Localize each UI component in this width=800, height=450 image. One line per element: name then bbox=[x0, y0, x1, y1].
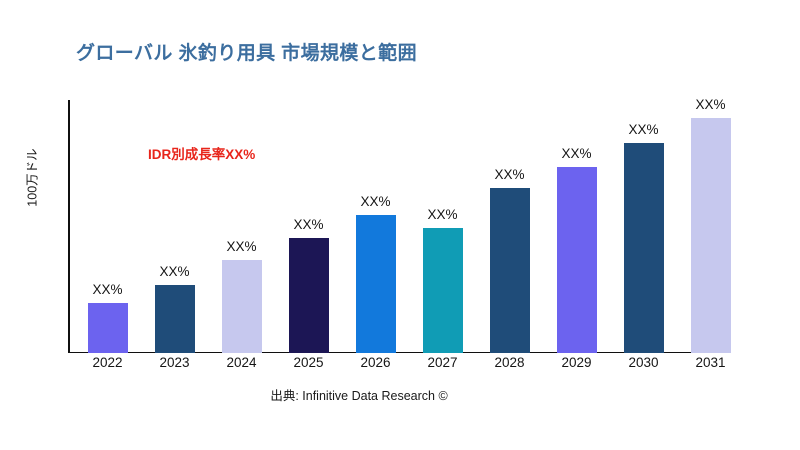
bar-2025[interactable] bbox=[289, 238, 329, 353]
bar-2024[interactable] bbox=[222, 260, 262, 353]
bar-value-label-2028: XX% bbox=[494, 167, 524, 182]
bar-group-2023[interactable]: XX% bbox=[141, 100, 208, 353]
source-note: 出典: Infinitive Data Research © bbox=[0, 385, 718, 404]
bar-value-label-2030: XX% bbox=[628, 122, 658, 137]
bar-group-2028[interactable]: XX% bbox=[476, 100, 543, 353]
bar-2029[interactable] bbox=[557, 167, 597, 353]
bar-2030[interactable] bbox=[624, 143, 664, 353]
bar-group-2026[interactable]: XX% bbox=[342, 100, 409, 353]
bar-value-label-2031: XX% bbox=[695, 97, 725, 112]
bar-2022[interactable] bbox=[88, 303, 128, 353]
bar-group-2022[interactable]: XX% bbox=[74, 100, 141, 353]
bar-2023[interactable] bbox=[155, 285, 195, 353]
x-tick-2024: 2024 bbox=[208, 355, 275, 370]
x-tick-2028: 2028 bbox=[476, 355, 543, 370]
bar-2028[interactable] bbox=[490, 188, 530, 353]
bar-value-label-2029: XX% bbox=[561, 146, 591, 161]
x-tick-2031: 2031 bbox=[677, 355, 744, 370]
x-tick-2025: 2025 bbox=[275, 355, 342, 370]
x-tick-2023: 2023 bbox=[141, 355, 208, 370]
bar-value-label-2027: XX% bbox=[427, 207, 457, 222]
bar-chart-figure: グローバル 氷釣り用具 市場規模と範囲 100万ドル IDR別成長率XX% XX… bbox=[0, 0, 800, 450]
bar-value-label-2022: XX% bbox=[92, 282, 122, 297]
bar-value-label-2024: XX% bbox=[226, 239, 256, 254]
x-tick-2026: 2026 bbox=[342, 355, 409, 370]
bar-group-2031[interactable]: XX% bbox=[677, 100, 744, 353]
bar-group-2025[interactable]: XX% bbox=[275, 100, 342, 353]
x-tick-2027: 2027 bbox=[409, 355, 476, 370]
bar-value-label-2026: XX% bbox=[360, 194, 390, 209]
bar-group-2029[interactable]: XX% bbox=[543, 100, 610, 353]
bar-2031[interactable] bbox=[691, 118, 731, 353]
bar-2026[interactable] bbox=[356, 215, 396, 353]
bar-group-2024[interactable]: XX% bbox=[208, 100, 275, 353]
x-tick-2022: 2022 bbox=[74, 355, 141, 370]
x-axis-tick-labels: 2022202320242025202620272028202920302031 bbox=[68, 355, 800, 379]
bar-group-2027[interactable]: XX% bbox=[409, 100, 476, 353]
chart-title: グローバル 氷釣り用具 市場規模と範囲 bbox=[76, 38, 417, 65]
y-axis-label: 100万ドル bbox=[22, 128, 41, 228]
plot-area: XX%XX%XX%XX%XX%XX%XX%XX%XX%XX% bbox=[68, 100, 800, 353]
x-tick-2030: 2030 bbox=[610, 355, 677, 370]
bar-2027[interactable] bbox=[423, 228, 463, 353]
x-tick-2029: 2029 bbox=[543, 355, 610, 370]
bar-value-label-2023: XX% bbox=[159, 264, 189, 279]
bar-value-label-2025: XX% bbox=[293, 217, 323, 232]
bar-group-2030[interactable]: XX% bbox=[610, 100, 677, 353]
